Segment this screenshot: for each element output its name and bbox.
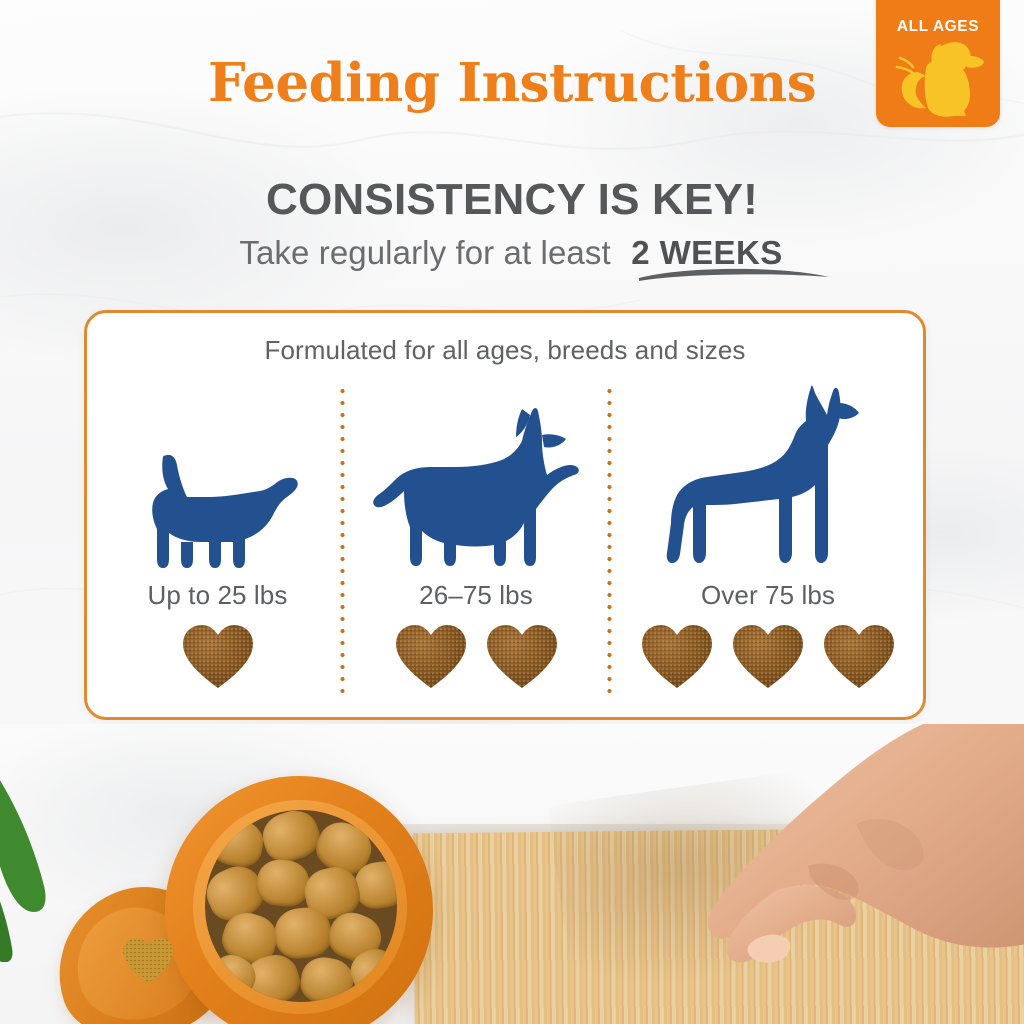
green-plant-leaf-icon <box>0 752 76 962</box>
weight-label-large: Over 75 lbs <box>612 580 924 611</box>
kibble-heart-icon <box>392 620 470 692</box>
hand-holding-treat-icon <box>556 724 1024 1024</box>
tagline-prefix: Take regularly for at least <box>239 234 610 271</box>
card-caption: Formulated for all ages, breeds and size… <box>87 335 923 366</box>
small-dog-icon <box>135 447 301 575</box>
feeding-chart-card: Formulated for all ages, breeds and size… <box>84 310 926 720</box>
serving-kibbles-small <box>95 620 340 692</box>
serving-kibbles-large <box>612 620 924 692</box>
size-column-medium: 26–75 lbs <box>345 375 607 705</box>
all-ages-badge-label: ALL AGES <box>876 18 1000 36</box>
page-title: Feeding Instructions <box>0 56 1024 112</box>
weight-label-medium: 26–75 lbs <box>345 580 607 611</box>
size-column-large: Over 75 lbs <box>612 375 924 705</box>
kibble-heart-icon <box>483 620 561 692</box>
tagline-row: Take regularly for at least 2 WEEKS <box>0 234 1024 272</box>
size-column-small: Up to 25 lbs <box>95 375 340 705</box>
serving-kibbles-medium <box>345 620 607 692</box>
jar-opening <box>205 810 397 1002</box>
medium-dog-illustration <box>345 375 607 575</box>
weight-label-small: Up to 25 lbs <box>95 580 340 611</box>
infographic-stage: ALL AGES Feeding Instructions <box>0 0 1024 1024</box>
large-dog-illustration <box>612 375 924 575</box>
small-dog-illustration <box>95 375 340 575</box>
medium-dog-icon <box>372 405 580 575</box>
large-dog-icon <box>661 385 875 575</box>
kibble-heart-icon <box>179 620 257 692</box>
underline-swoosh-icon <box>636 262 832 284</box>
kibble-heart-icon <box>820 620 898 692</box>
held-kibble-icon <box>120 934 176 986</box>
product-photo <box>0 724 1024 1024</box>
kibble-heart-icon <box>638 620 716 692</box>
page-subtitle: CONSISTENCY IS KEY! <box>0 175 1024 225</box>
kibble-heart-icon <box>729 620 807 692</box>
